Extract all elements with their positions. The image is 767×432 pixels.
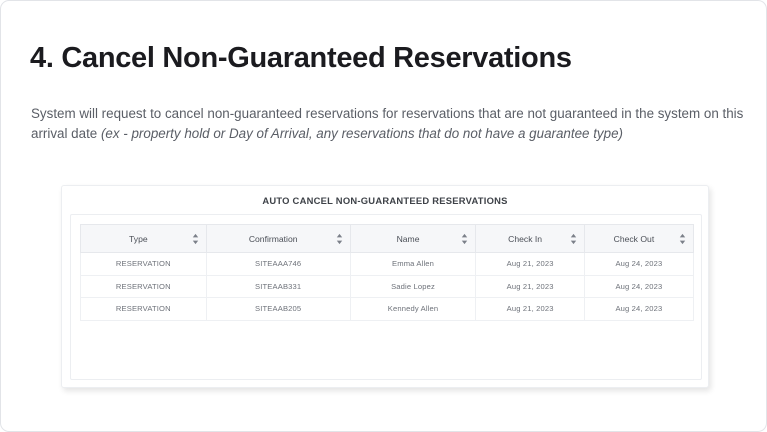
cell-confirmation: SITEAAB331 (206, 275, 350, 298)
reservations-table: Type Confirmation Name (80, 224, 694, 321)
column-header-label: Confirmation (249, 234, 298, 244)
cell-name: Emma Allen (350, 253, 476, 276)
table-row[interactable]: RESERVATION SITEAAB205 Kennedy Allen Aug… (81, 298, 694, 321)
sort-updown-icon[interactable] (461, 233, 468, 244)
sort-updown-icon[interactable] (679, 233, 686, 244)
cell-name: Kennedy Allen (350, 298, 476, 321)
column-header-type[interactable]: Type (81, 225, 207, 253)
column-header-label: Name (397, 234, 420, 244)
cell-type: RESERVATION (81, 275, 207, 298)
slide-canvas: 4. Cancel Non-Guaranteed Reservations Sy… (0, 0, 767, 432)
cell-check-out: Aug 24, 2023 (584, 275, 693, 298)
sort-updown-icon[interactable] (336, 233, 343, 244)
table-row[interactable]: RESERVATION SITEAAB331 Sadie Lopez Aug 2… (81, 275, 694, 298)
table-card: AUTO CANCEL NON-GUARANTEED RESERVATIONS … (61, 185, 709, 388)
page-title: 4. Cancel Non-Guaranteed Reservations (30, 42, 572, 75)
column-header-confirmation[interactable]: Confirmation (206, 225, 350, 253)
cell-confirmation: SITEAAB205 (206, 298, 350, 321)
cell-confirmation: SITEAAA746 (206, 253, 350, 276)
table-row[interactable]: RESERVATION SITEAAA746 Emma Allen Aug 21… (81, 253, 694, 276)
table-panel: Type Confirmation Name (70, 214, 702, 380)
table-title: AUTO CANCEL NON-GUARANTEED RESERVATIONS (62, 195, 708, 206)
slide-description: System will request to cancel non-guaran… (31, 104, 747, 144)
column-header-check-in[interactable]: Check In (476, 225, 585, 253)
cell-check-in: Aug 21, 2023 (476, 298, 585, 321)
cell-check-in: Aug 21, 2023 (476, 275, 585, 298)
cell-check-in: Aug 21, 2023 (476, 253, 585, 276)
column-header-label: Check Out (614, 234, 655, 244)
cell-type: RESERVATION (81, 253, 207, 276)
cell-name: Sadie Lopez (350, 275, 476, 298)
sort-updown-icon[interactable] (570, 233, 577, 244)
cell-check-out: Aug 24, 2023 (584, 253, 693, 276)
sort-updown-icon[interactable] (192, 233, 199, 244)
description-italic-note: (ex - property hold or Day of Arrival, a… (101, 126, 623, 141)
cell-check-out: Aug 24, 2023 (584, 298, 693, 321)
cell-type: RESERVATION (81, 298, 207, 321)
column-header-label: Type (129, 234, 148, 244)
table-header-row: Type Confirmation Name (81, 225, 694, 253)
column-header-name[interactable]: Name (350, 225, 476, 253)
column-header-label: Check In (508, 234, 542, 244)
column-header-check-out[interactable]: Check Out (584, 225, 693, 253)
